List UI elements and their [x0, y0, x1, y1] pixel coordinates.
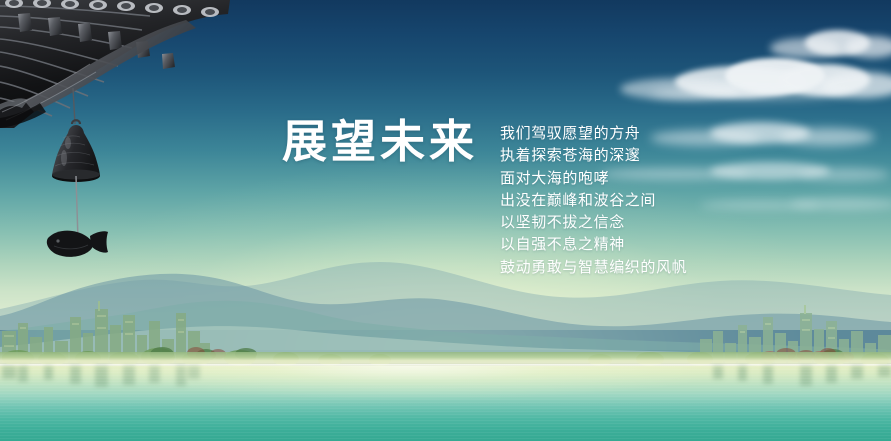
cloud-cluster-wisp	[700, 196, 891, 214]
wind-chime-bell	[30, 88, 120, 298]
page-title: 展望未来	[282, 119, 478, 164]
fish-clapper	[47, 231, 108, 257]
poem-line: 出没在巅峰和波谷之间	[500, 189, 715, 211]
promo-banner: 展望未来 我们驾驭愿望的方舟 执着探索苍海的深邃 面对大海的咆哮 出没在巅峰和波…	[0, 0, 891, 441]
poem-line: 执着探索苍海的深邃	[500, 144, 715, 166]
poem-line: 以自强不息之精神	[500, 233, 715, 255]
clapper-rod	[76, 176, 78, 240]
cloud-cluster-main	[620, 58, 890, 106]
poem-line: 我们驾驭愿望的方舟	[500, 122, 715, 144]
water-sun-glare	[0, 366, 891, 406]
poem-block: 我们驾驭愿望的方舟 执着探索苍海的深邃 面对大海的咆哮 出没在巅峰和波谷之间 以…	[500, 122, 715, 278]
bell-hanging-string	[73, 88, 75, 124]
poem-line: 以坚韧不拔之信念	[500, 211, 715, 233]
poem-line: 鼓动勇敢与智慧编织的风帆	[500, 256, 715, 278]
poem-line: 面对大海的咆哮	[500, 167, 715, 189]
bell-body	[52, 125, 100, 176]
cloud-cluster-top-right	[770, 28, 891, 62]
